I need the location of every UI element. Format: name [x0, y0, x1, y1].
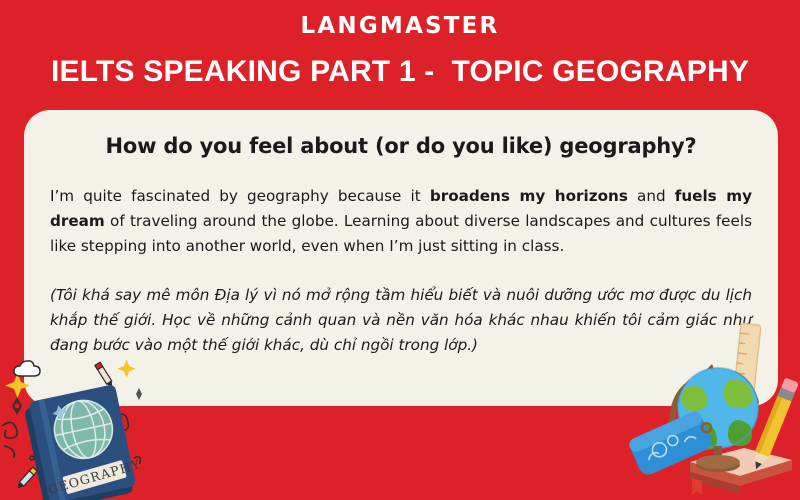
answer-bold-1: broadens my horizons [430, 187, 628, 205]
card-inner: How do you feel about (or do you like) g… [40, 132, 762, 358]
langmaster-logo: LANGMASTER [0, 12, 800, 40]
answer-seg-1: I’m quite fascinated by geography becaus… [50, 187, 430, 205]
answer-seg-3: of traveling around the globe. Learning … [50, 212, 752, 255]
page-title: IELTS SPEAKING PART 1 - TOPIC GEOGRAPHY [0, 53, 800, 91]
geography-book-illustration: GEOGRAPHY [0, 354, 184, 500]
globe-stationery-illustration [634, 332, 800, 500]
question-heading: How do you feel about (or do you like) g… [40, 132, 762, 160]
geography-book: GEOGRAPHY [23, 382, 147, 500]
poster-canvas: LANGMASTER IELTS SPEAKING PART 1 - TOPIC… [0, 0, 800, 500]
answer-seg-2: and [628, 187, 675, 205]
answer-english: I’m quite fascinated by geography becaus… [40, 184, 762, 259]
book-icon [690, 448, 792, 495]
